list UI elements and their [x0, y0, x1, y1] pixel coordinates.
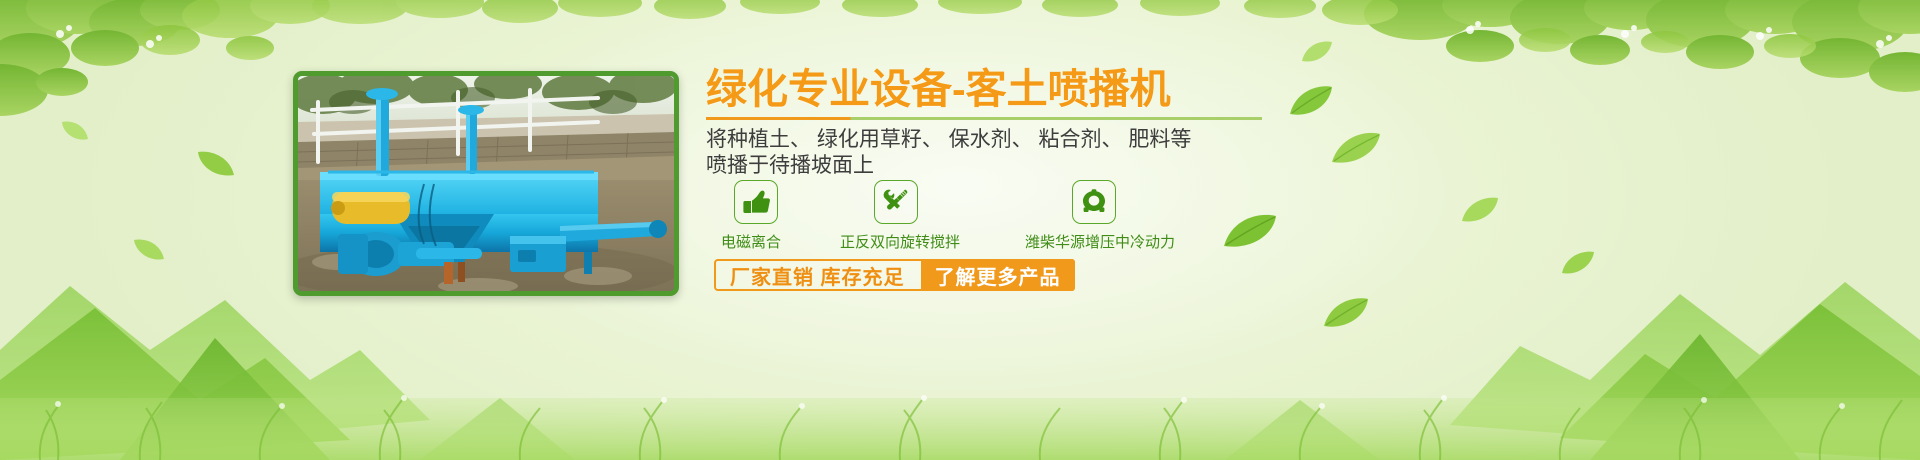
floating-leaf-icon	[1322, 296, 1370, 330]
floating-leaf-icon	[1560, 250, 1596, 276]
engine-power-icon	[1079, 187, 1109, 217]
floating-leaf-icon	[132, 238, 166, 262]
thumbs-up-icon	[741, 187, 771, 217]
wrench-screwdriver-icon	[881, 187, 911, 217]
subtitle-line-1: 将种植土、 绿化用草籽、 保水剂、 粘合剂、 肥料等	[706, 127, 1266, 153]
floating-leaf-icon	[1300, 40, 1334, 64]
feature-label: 潍柴华源增压中冷动力	[998, 231, 1202, 252]
grass-foreground	[0, 340, 1920, 460]
feature-item-electromagnetic-clutch[interactable]: 电磁离合	[706, 180, 796, 252]
feature-icon-box	[874, 180, 918, 224]
cta-slogan: 厂家直销 库存充足	[716, 261, 921, 289]
product-photo-image	[298, 76, 674, 291]
product-photo[interactable]	[293, 71, 679, 296]
floating-leaf-icon	[60, 120, 90, 142]
floating-leaf-icon	[196, 150, 236, 178]
subtitle-line-2: 喷播于待播坡面上	[706, 153, 1266, 179]
title-divider	[706, 117, 1262, 120]
feature-icon-box	[734, 180, 778, 224]
page-title: 绿化专业设备-客土喷播机	[706, 66, 1266, 112]
promo-banner: 绿化专业设备-客土喷播机 将种植土、 绿化用草籽、 保水剂、 粘合剂、 肥料等 …	[0, 0, 1920, 460]
floating-leaf-icon	[1330, 130, 1382, 166]
feature-label: 正反双向旋转搅拌	[812, 231, 988, 252]
feature-item-bidirectional-stirring[interactable]: 正反双向旋转搅拌	[812, 180, 988, 252]
feature-item-weichai-power[interactable]: 潍柴华源增压中冷动力	[998, 180, 1202, 252]
feature-icon-box	[1072, 180, 1116, 224]
cta-bar: 厂家直销 库存充足 了解更多产品	[714, 259, 1075, 291]
learn-more-button[interactable]: 了解更多产品	[921, 259, 1075, 291]
feature-list: 电磁离合 正反双向旋转搅拌	[706, 180, 1226, 250]
floating-leaf-icon	[1288, 84, 1334, 118]
feature-label: 电磁离合	[706, 231, 796, 252]
floating-leaf-icon	[1460, 196, 1500, 224]
